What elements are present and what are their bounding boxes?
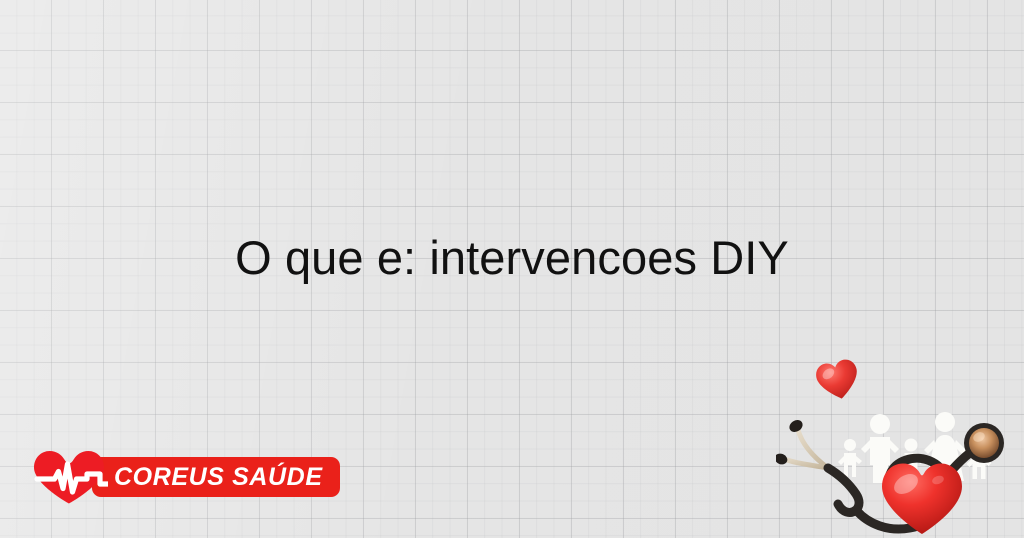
large-red-heart-icon (882, 464, 962, 535)
brand-logo[interactable]: COREUS SAÚDE (30, 448, 340, 506)
brand-name-badge: COREUS SAÚDE (92, 457, 340, 497)
brand-name-label: COREUS SAÚDE (114, 463, 323, 492)
title-container: O que e: intervencoes DIY (0, 231, 1024, 285)
medical-collage (776, 352, 1024, 538)
article-banner: O que e: intervencoes DIY COREUS SAÚDE (0, 0, 1024, 538)
small-red-heart-icon (814, 358, 862, 403)
page-title: O que e: intervencoes DIY (60, 231, 964, 285)
heart-pulse-icon (30, 448, 108, 506)
